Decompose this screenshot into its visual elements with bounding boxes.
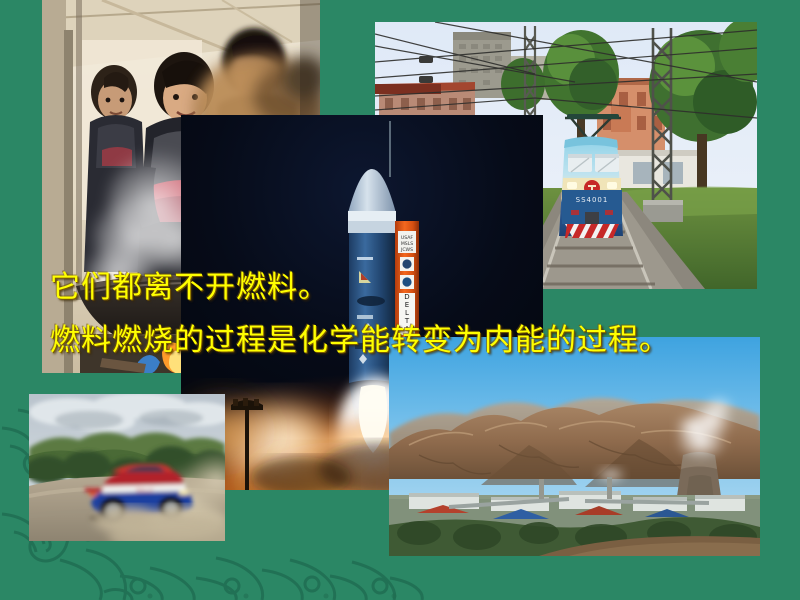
svg-text:E: E [405, 301, 409, 309]
svg-text:RALLY: RALLY [136, 488, 154, 494]
svg-text:JCWS: JCWS [400, 247, 413, 253]
photo-rally-car: RALLY [29, 394, 225, 541]
svg-text:USAF: USAF [401, 235, 414, 241]
svg-text:SS4001: SS4001 [576, 196, 609, 204]
svg-text:T: T [404, 317, 410, 325]
svg-text:MSLS: MSLS [401, 241, 413, 247]
photo-power-plant [389, 337, 760, 556]
svg-text:L: L [405, 309, 409, 317]
svg-text:A: A [405, 325, 410, 333]
slide-canvas: SS4001 [0, 0, 800, 600]
svg-text:D: D [404, 293, 409, 301]
